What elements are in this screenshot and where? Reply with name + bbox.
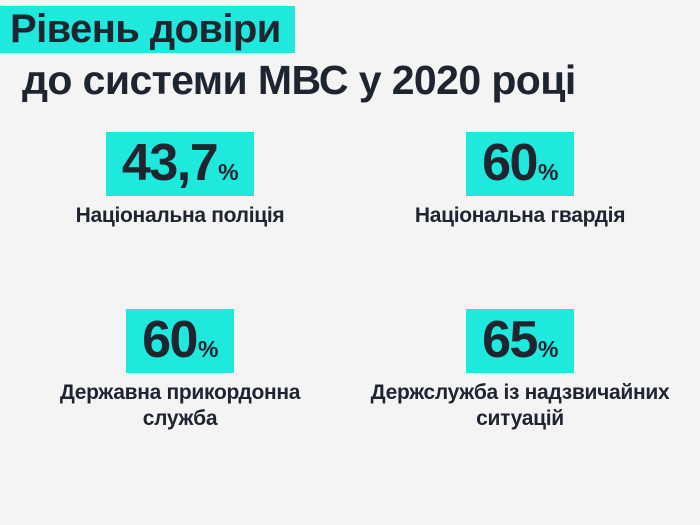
title-line-1-text: Рівень довіри [0, 6, 295, 53]
stat-value-badge: 43,7 % [106, 132, 254, 196]
title-line-2-text: до системи МВС у 2020 році [0, 56, 700, 104]
percent-sign-icon: % [218, 161, 238, 184]
stat-value: 60 [482, 137, 537, 189]
stat-label: Державна прикордонна служба [30, 380, 330, 432]
stat-card-national-guard: 60 % Національна гвардія [355, 132, 685, 297]
stat-label: Держслужба із надзвичайних ситуацій [360, 380, 680, 432]
percent-sign-icon: % [538, 338, 558, 361]
stat-value-badge: 60 % [466, 132, 574, 196]
stat-label: Національна поліція [76, 203, 285, 229]
stat-value: 43,7 [122, 137, 217, 189]
percent-sign-icon: % [538, 161, 558, 184]
percent-sign-icon: % [198, 338, 218, 361]
stats-grid: 43,7 % Національна поліція 60 % Націонал… [0, 132, 700, 432]
stat-value-badge: 60 % [126, 309, 234, 373]
page-title: Рівень довіри до системи МВС у 2020 році [0, 6, 700, 104]
infographic-poster: Рівень довіри до системи МВС у 2020 році… [0, 0, 700, 525]
stat-card-national-police: 43,7 % Національна поліція [15, 132, 345, 297]
stat-card-border-guard: 60 % Державна прикордонна служба [15, 309, 345, 432]
stat-value-badge: 65 % [466, 309, 574, 373]
stat-card-emergency-service: 65 % Держслужба із надзвичайних ситуацій [355, 309, 685, 432]
stat-value: 60 [142, 314, 197, 366]
stat-label: Національна гвардія [415, 203, 625, 229]
title-line-highlighted: Рівень довіри [0, 6, 700, 53]
stat-value: 65 [482, 314, 537, 366]
